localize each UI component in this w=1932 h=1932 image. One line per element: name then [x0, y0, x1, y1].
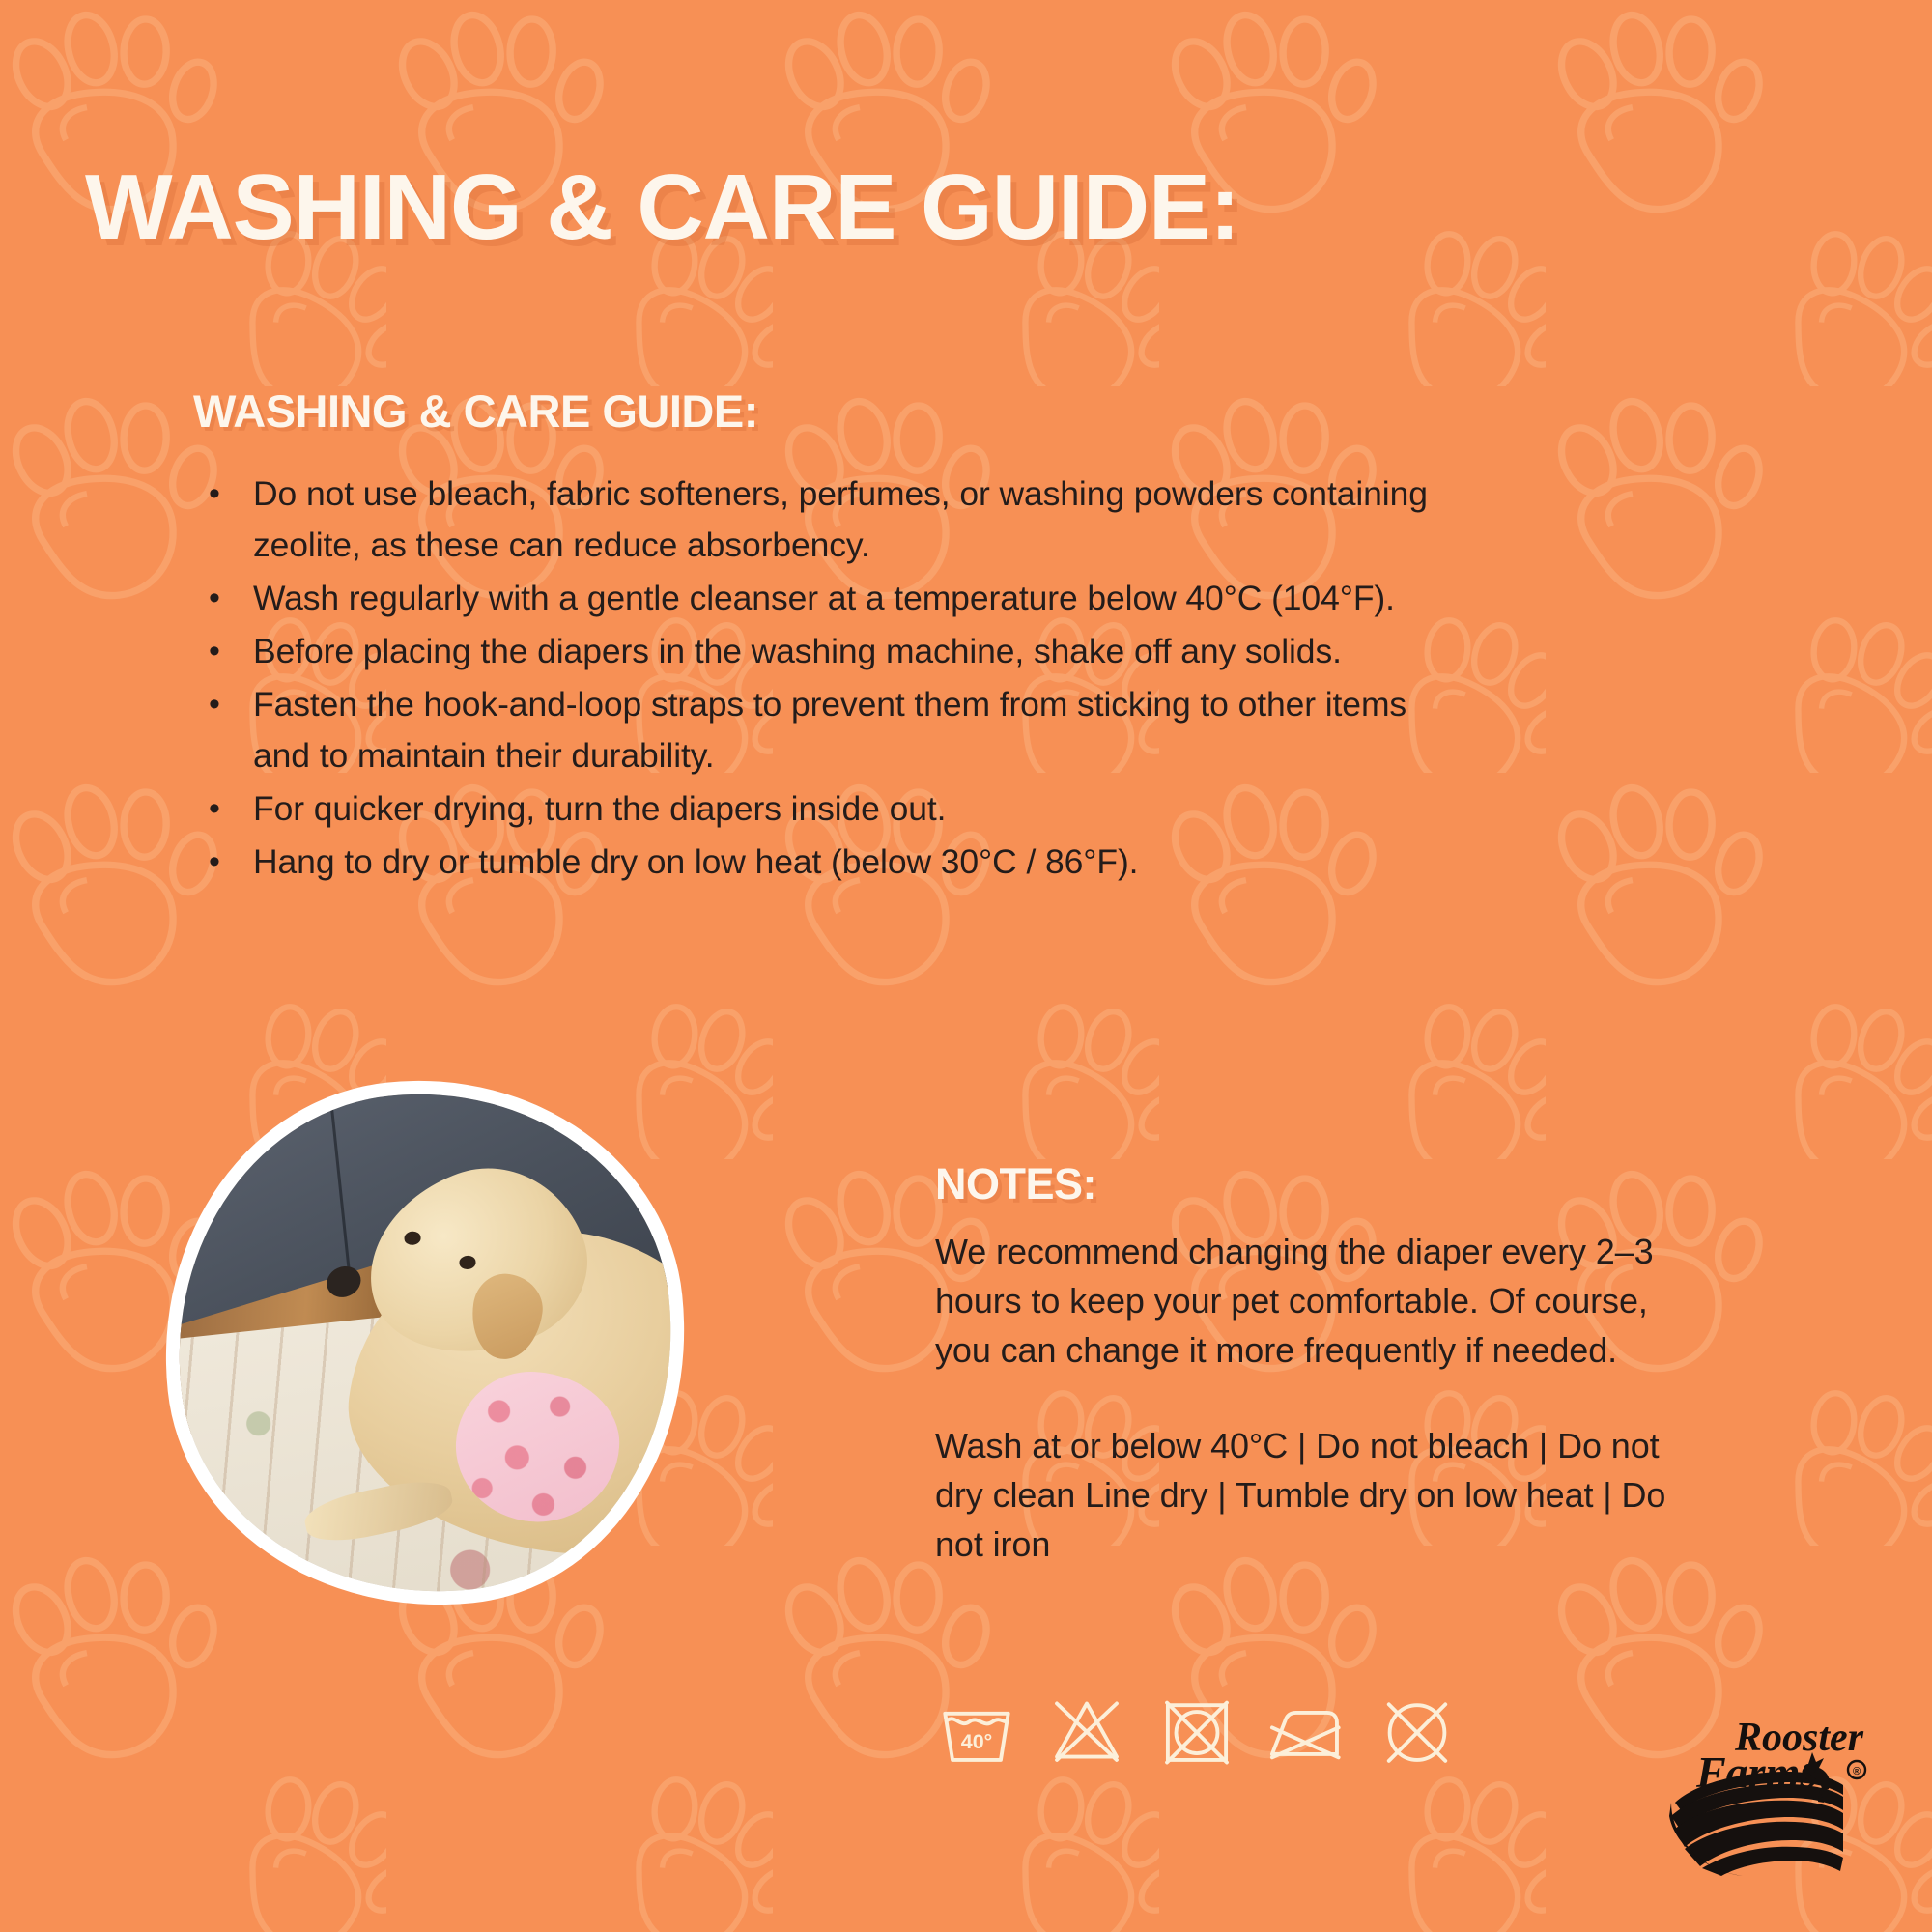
do-not-iron-icon [1265, 1689, 1349, 1772]
list-item: • Hang to dry or tumble dry on low heat … [203, 837, 1449, 888]
bullet-dot-icon: • [203, 573, 253, 624]
list-item-text: Fasten the hook-and-loop straps to preve… [253, 679, 1449, 781]
list-item-text: Do not use bleach, fabric softeners, per… [253, 469, 1449, 571]
bullet-dot-icon: • [203, 783, 253, 835]
do-not-bleach-icon [1045, 1689, 1128, 1772]
do-not-dry-clean-icon [1376, 1689, 1459, 1772]
wash-temperature-label: 40° [961, 1730, 993, 1753]
bullet-dot-icon: • [203, 679, 253, 730]
bullet-dot-icon: • [203, 837, 253, 888]
list-item-text: Hang to dry or tumble dry on low heat (b… [253, 837, 1449, 888]
care-symbols-row: 40° [935, 1689, 1459, 1772]
do-not-tumble-dry-icon [1155, 1689, 1238, 1772]
product-photo [164, 1080, 686, 1606]
logo-line2: Farms [1695, 1747, 1817, 1797]
photo-blob-frame [138, 1054, 712, 1632]
bullet-dot-icon: • [203, 469, 253, 520]
registered-mark: ® [1848, 1761, 1865, 1778]
washing-section-subtitle: WASHING & CARE GUIDE: [193, 384, 758, 438]
list-item: • Fasten the hook-and-loop straps to pre… [203, 679, 1449, 781]
list-item-text: Before placing the diapers in the washin… [253, 626, 1449, 677]
page-title: WASHING & CARE GUIDE: [85, 155, 1239, 261]
svg-text:®: ® [1853, 1766, 1861, 1777]
notes-section: NOTES: We recommend changing the diaper … [935, 1159, 1698, 1569]
photo-image [153, 1069, 696, 1618]
washing-instructions-list: • Do not use bleach, fabric softeners, p… [203, 469, 1449, 890]
bullet-dot-icon: • [203, 626, 253, 677]
rooster-farms-logo: Rooster Farms ® [1642, 1702, 1870, 1882]
list-item-text: For quicker drying, turn the diapers ins… [253, 783, 1449, 835]
notes-paragraph-2: Wash at or below 40°C | Do not bleach | … [935, 1421, 1698, 1569]
notes-title: NOTES: [935, 1159, 1698, 1209]
notes-spacer [935, 1375, 1698, 1421]
wash-40-degrees-icon: 40° [935, 1689, 1018, 1772]
list-item: • Wash regularly with a gentle cleanser … [203, 573, 1449, 624]
list-item: • Before placing the diapers in the wash… [203, 626, 1449, 677]
list-item: • For quicker drying, turn the diapers i… [203, 783, 1449, 835]
list-item-text: Wash regularly with a gentle cleanser at… [253, 573, 1449, 624]
list-item: • Do not use bleach, fabric softeners, p… [203, 469, 1449, 571]
notes-paragraph-1: We recommend changing the diaper every 2… [935, 1227, 1698, 1375]
